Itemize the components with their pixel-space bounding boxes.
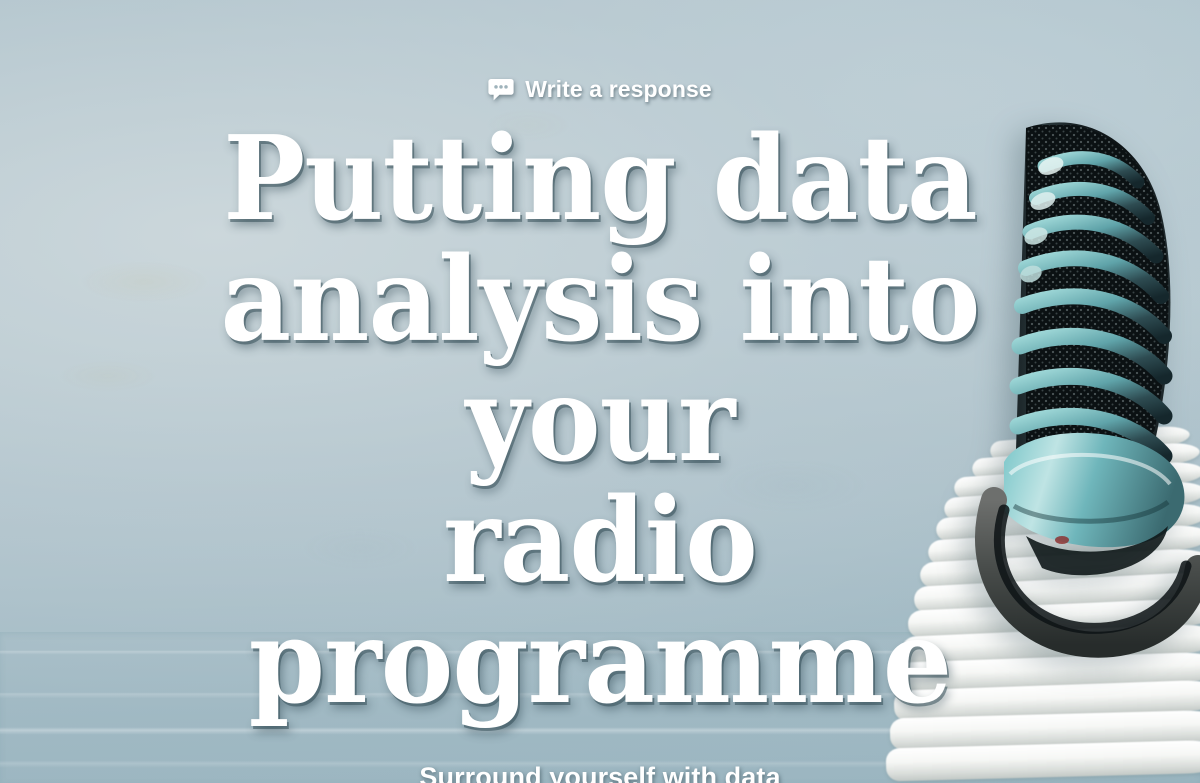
page-subtitle: Surround yourself with data [419, 762, 780, 783]
hero-content: Write a response Putting data analysis i… [0, 0, 1200, 783]
write-a-response-link[interactable]: Write a response [488, 76, 712, 103]
article-hero: Write a response Putting data analysis i… [0, 0, 1200, 783]
headline-line-1: Putting data [223, 111, 977, 247]
page-title: Putting data analysis into your radio pr… [83, 119, 1117, 722]
write-a-response-label: Write a response [525, 76, 712, 103]
comment-bubble-icon [488, 78, 514, 102]
headline-line-3: radio programme [249, 473, 951, 730]
headline-line-2: analysis into your [220, 232, 979, 489]
